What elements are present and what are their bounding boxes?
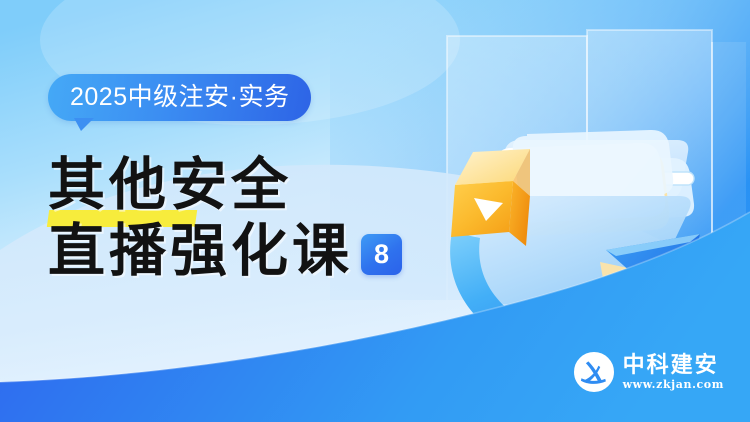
course-category-label: 2025中级注安·实务 [70, 85, 289, 110]
logo-text-block: 中科建安 www.zkjan.com [623, 355, 724, 390]
brand-website-url: www.zkjan.com [623, 379, 724, 390]
course-category-badge[interactable]: 2025中级注安·实务 [48, 74, 311, 121]
brand-name-cn: 中科建安 [623, 355, 724, 377]
zkjan-logo-icon [574, 352, 614, 392]
episode-number-label: 8 [374, 241, 389, 268]
course-promo-banner: 2025中级注安·实务 其他安全 直播强化课 8 中科建安 [0, 0, 750, 422]
brand-logo[interactable]: 中科建安 www.zkjan.com [574, 352, 724, 392]
episode-number-badge[interactable]: 8 [361, 234, 402, 275]
